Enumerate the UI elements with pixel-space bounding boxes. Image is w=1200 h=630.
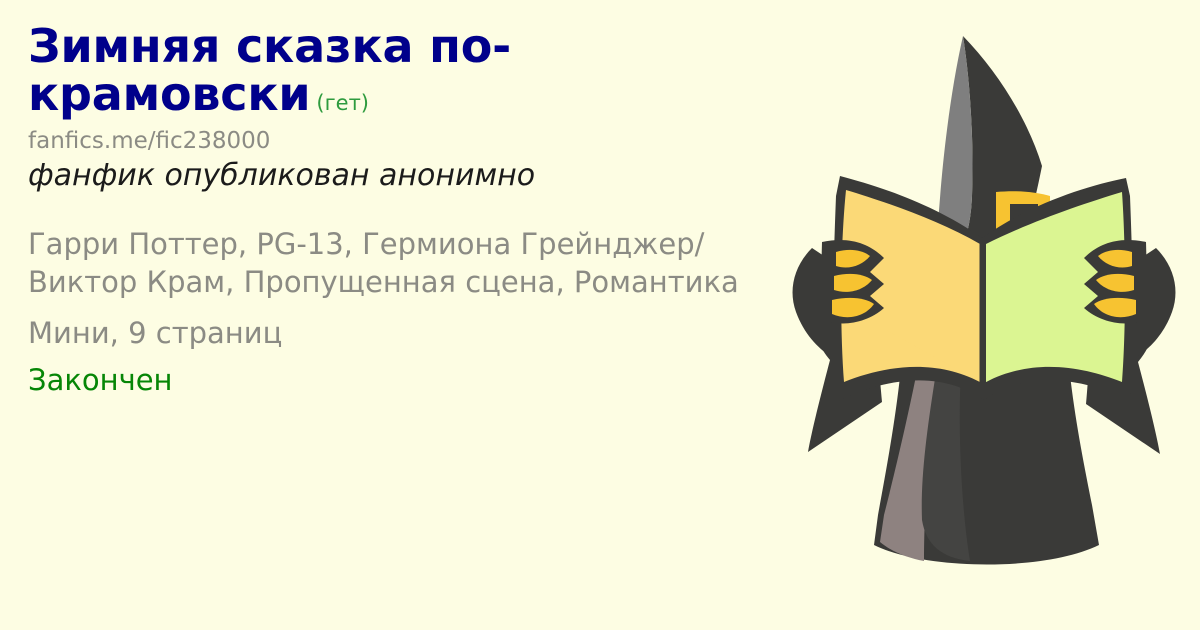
page-title[interactable]: Зимняя сказка по-крамовски xyxy=(28,19,511,121)
wizard-reading-book-icon xyxy=(774,0,1194,630)
source-url[interactable]: fanfics.me/fic238000 xyxy=(28,128,768,154)
status-badge: Закончен xyxy=(28,361,768,399)
title-block: Зимняя сказка по-крамовски(гет) xyxy=(28,22,768,119)
fandom-and-tags: Гарри Поттер, PG-13, Гермиона Грейнджер/… xyxy=(28,225,768,302)
wizard-reading-book-svg xyxy=(774,0,1194,630)
size-line: Мини, 9 страниц xyxy=(28,314,768,352)
meta-block: Гарри Поттер, PG-13, Гермиона Грейнджер/… xyxy=(28,225,768,399)
category-tag: (гет) xyxy=(316,91,369,115)
text-column: Зимняя сказка по-крамовски(гет) fanfics.… xyxy=(28,22,768,399)
author-line: фанфик опубликован анонимно xyxy=(28,158,768,194)
fanfic-preview-card: Зимняя сказка по-крамовски(гет) fanfics.… xyxy=(0,0,1200,630)
